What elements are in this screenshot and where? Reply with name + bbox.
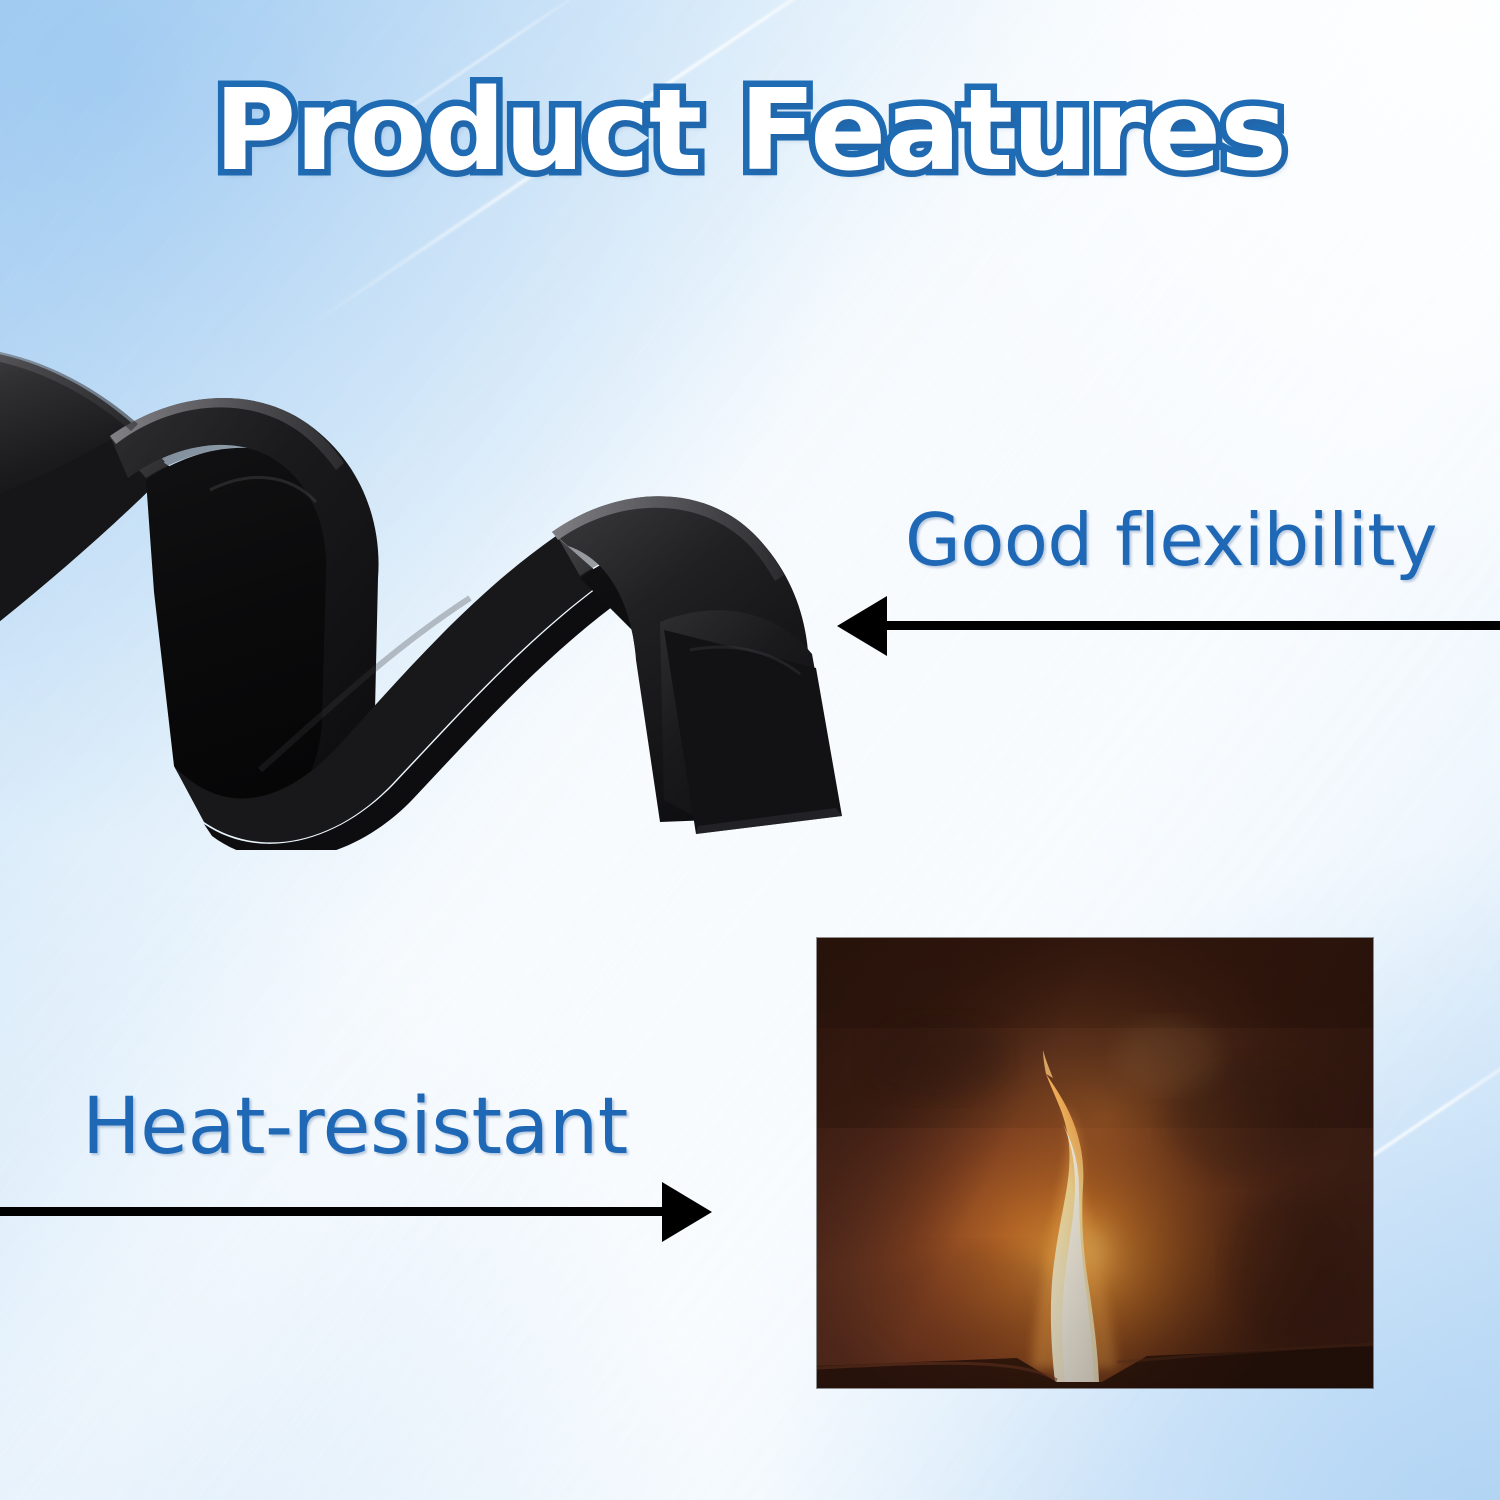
page-title: Product Features — [0, 70, 1500, 193]
product-features-infographic: Product Features — [0, 0, 1500, 1500]
flame-test-photo — [817, 938, 1373, 1388]
rubber-sheet-photo — [0, 330, 880, 850]
feature-label-heat-resistant: Heat-resistant — [82, 1082, 628, 1172]
arrow-left-flexibility — [835, 592, 1500, 662]
arrow-right-heat-resistant — [0, 1178, 716, 1248]
feature-label-flexibility: Good flexibility — [905, 498, 1437, 582]
